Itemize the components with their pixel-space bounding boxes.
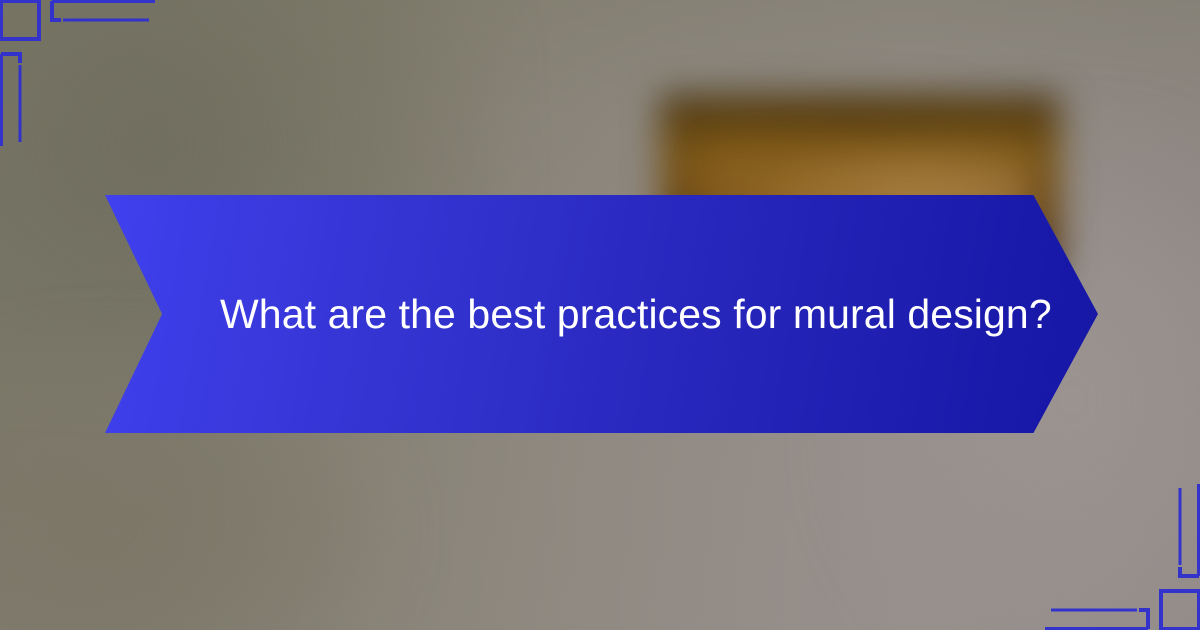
share-card-canvas: What are the best practices for mural de… [0, 0, 1200, 630]
headline-banner: What are the best practices for mural de… [105, 195, 1098, 433]
headline-text: What are the best practices for mural de… [105, 289, 1132, 340]
